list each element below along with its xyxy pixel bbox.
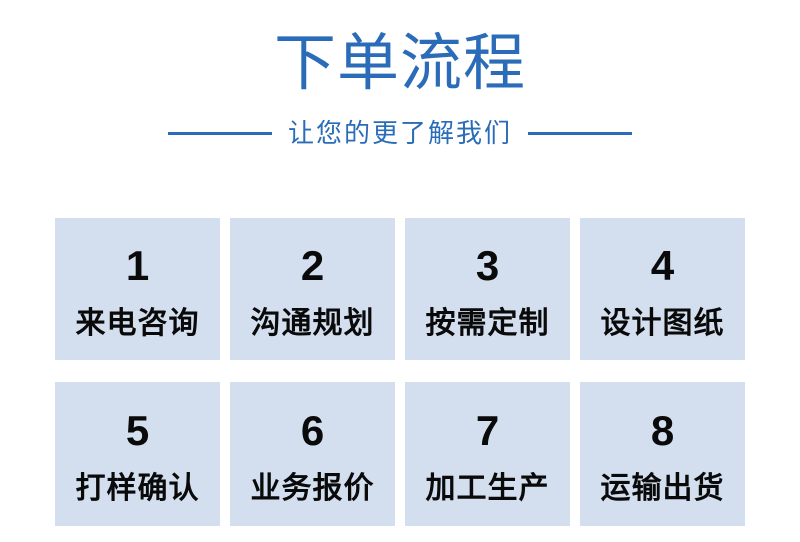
page-subtitle: 让您的更了解我们	[288, 116, 512, 150]
step-card-6[interactable]: 6 业务报价	[230, 382, 395, 526]
step-number: 3	[476, 242, 499, 290]
step-number: 1	[126, 242, 149, 290]
step-card-5[interactable]: 5 打样确认	[55, 382, 220, 526]
step-card-8[interactable]: 8 运输出货	[580, 382, 745, 526]
page-header: 下单流程 让您的更了解我们	[0, 0, 800, 200]
decorative-rule-left	[168, 132, 272, 135]
step-label: 按需定制	[426, 306, 550, 342]
page-title: 下单流程	[0, 28, 800, 100]
step-card-2[interactable]: 2 沟通规划	[230, 218, 395, 360]
step-card-3[interactable]: 3 按需定制	[405, 218, 570, 360]
step-card-1[interactable]: 1 来电咨询	[55, 218, 220, 360]
process-steps-grid: 1 来电咨询 2 沟通规划 3 按需定制 4 设计图纸 5 打样确认 6 业务报…	[55, 218, 745, 526]
step-label: 加工生产	[426, 471, 550, 507]
step-number: 8	[651, 407, 674, 455]
step-card-4[interactable]: 4 设计图纸	[580, 218, 745, 360]
step-number: 6	[301, 407, 324, 455]
step-label: 设计图纸	[601, 306, 725, 342]
step-number: 5	[126, 407, 149, 455]
step-card-7[interactable]: 7 加工生产	[405, 382, 570, 526]
decorative-rule-right	[528, 132, 632, 135]
step-label: 运输出货	[601, 471, 725, 507]
subtitle-row: 让您的更了解我们	[0, 116, 800, 150]
step-number: 4	[651, 242, 674, 290]
step-number: 7	[476, 407, 499, 455]
step-label: 业务报价	[251, 471, 375, 507]
step-label: 来电咨询	[76, 306, 200, 342]
step-number: 2	[301, 242, 324, 290]
step-label: 沟通规划	[251, 306, 375, 342]
step-label: 打样确认	[76, 471, 200, 507]
